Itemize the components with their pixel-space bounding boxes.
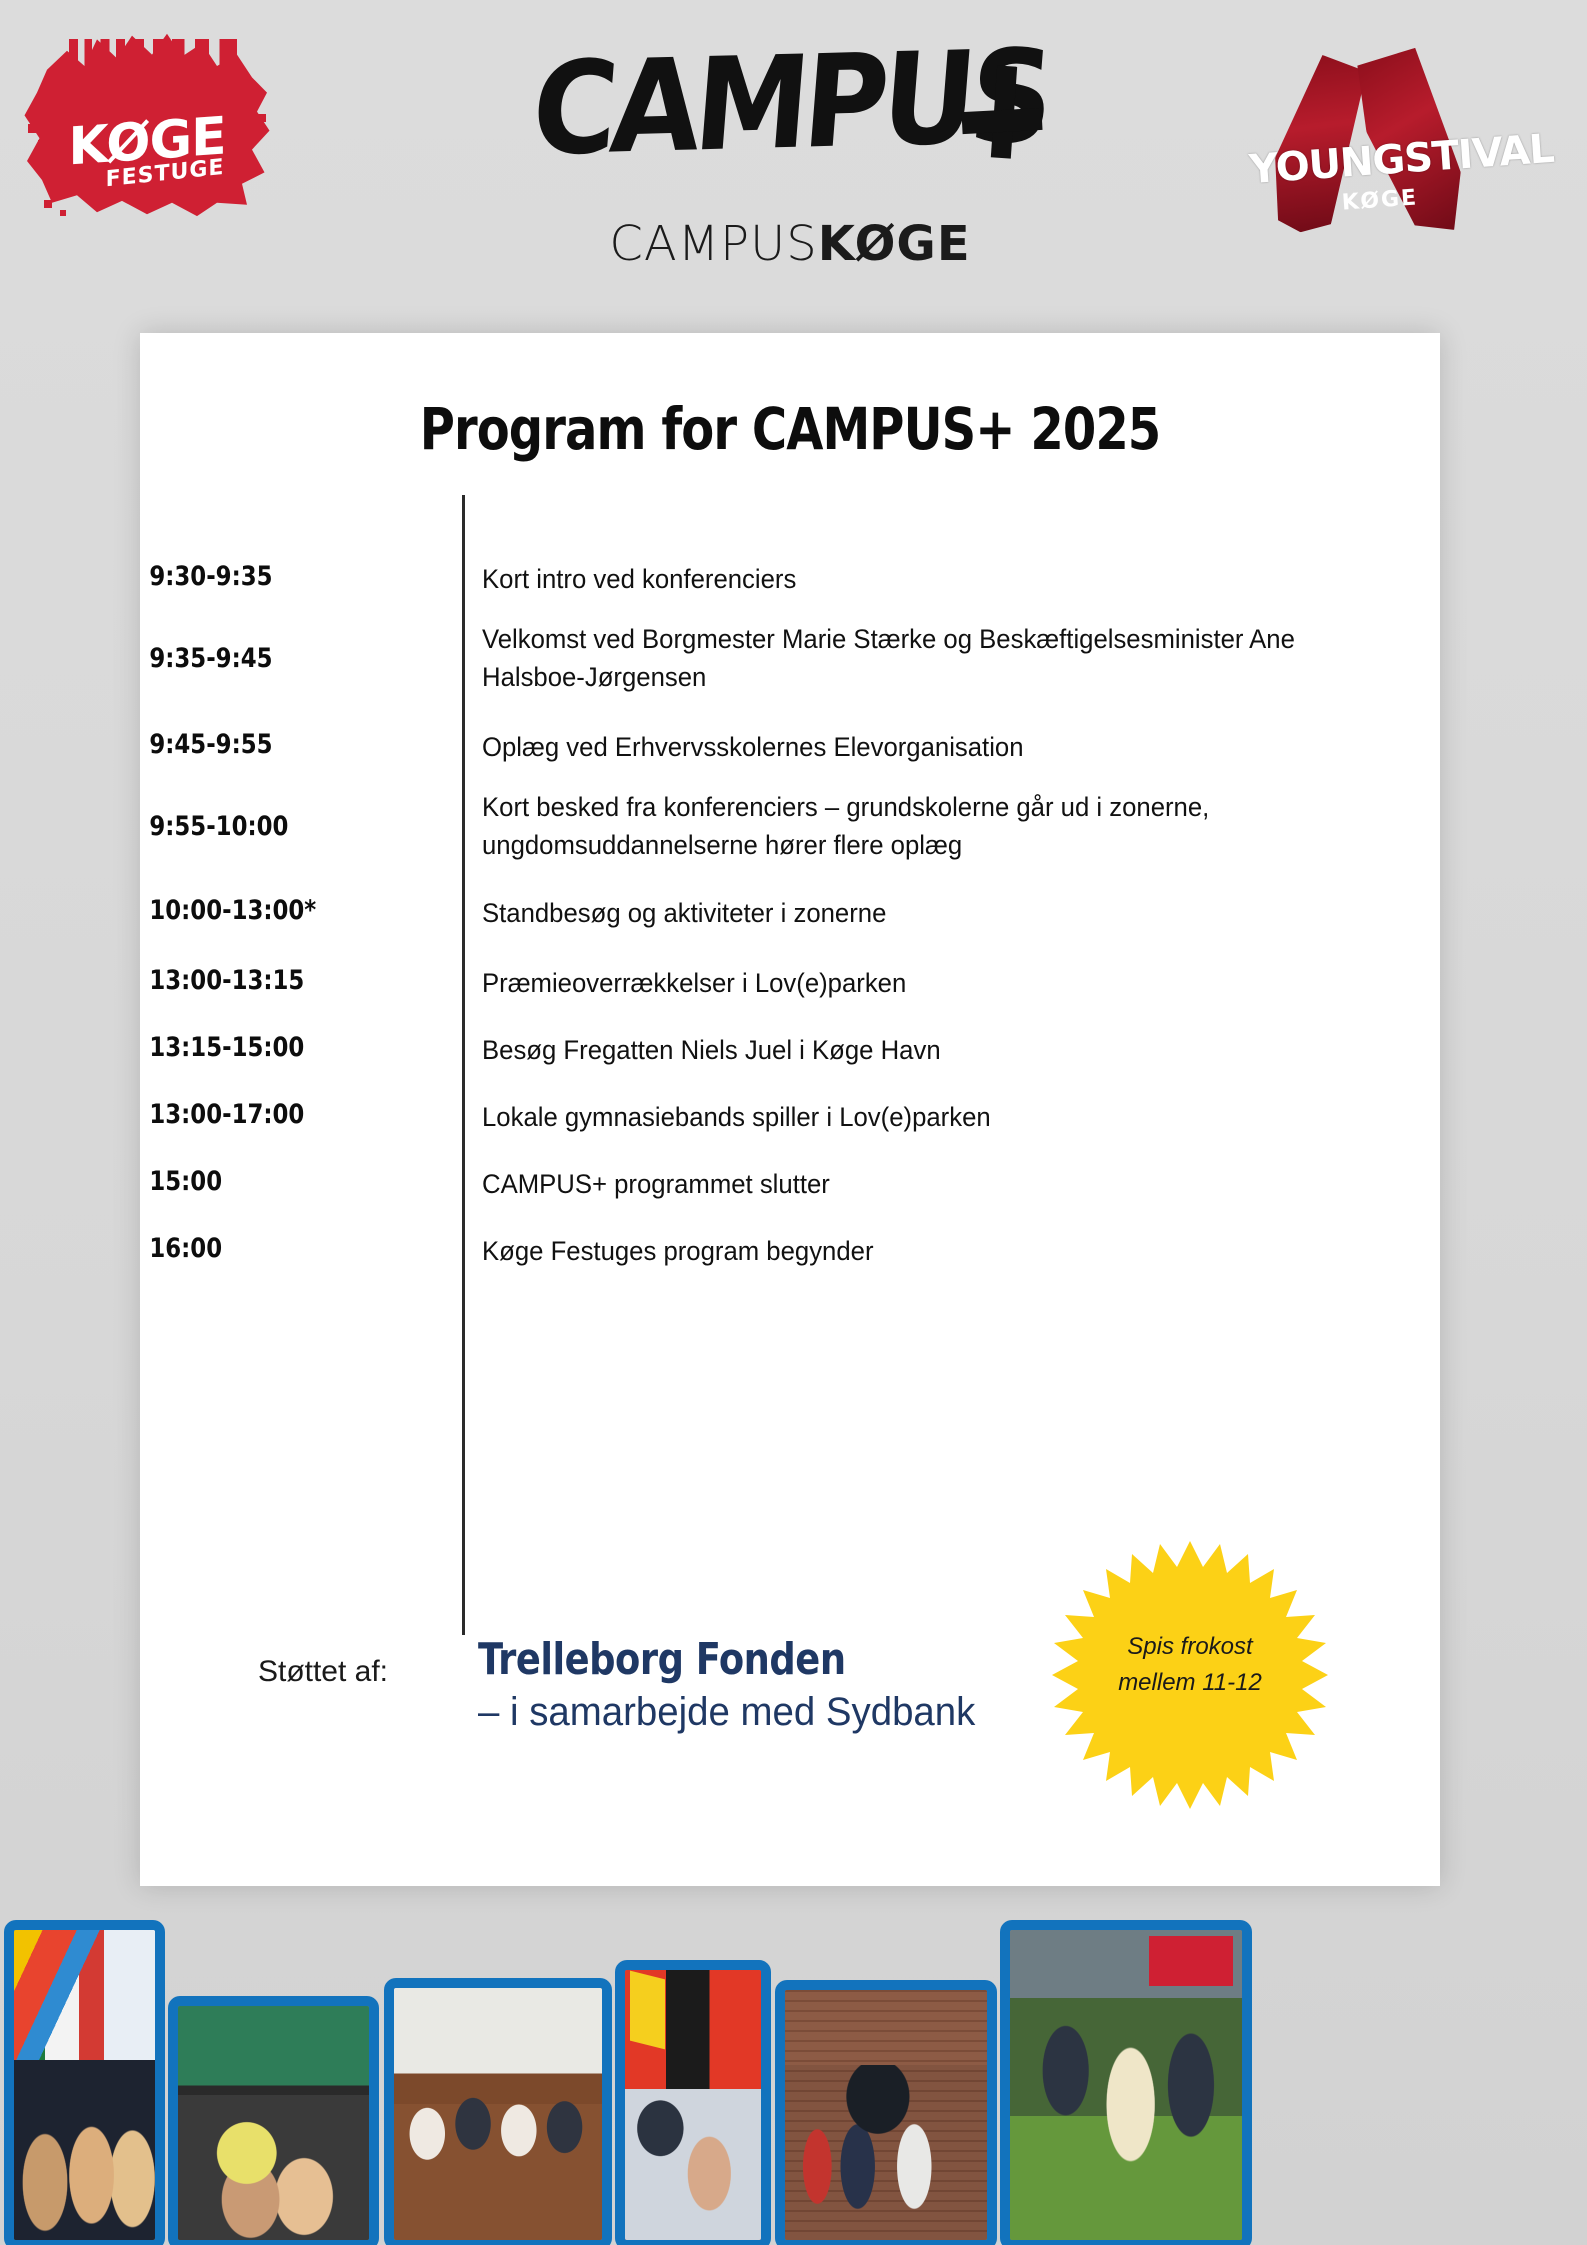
splatter-fleck [28, 124, 37, 133]
photo-students-with-flags [4, 1920, 165, 2245]
badge-text: Spis frokost mellem 11-12 [1052, 1629, 1328, 1701]
schedule-description: Kort besked fra konferenciers – grundsko… [482, 789, 1355, 864]
logo-bar: KØGE FESTUGE CAMPUS CAMPUSKØGE YOUNGSTIV… [0, 0, 1587, 333]
poster-root: KØGE FESTUGE CAMPUS CAMPUSKØGE YOUNGSTIV… [0, 0, 1587, 2245]
schedule-row: 9:45-9:55 Oplæg ved Erhvervsskolernes El… [140, 729, 1440, 767]
photo-image [785, 1990, 987, 2240]
photo-image [178, 2006, 369, 2240]
schedule-time: 9:55-10:00 [140, 811, 422, 864]
schedule-description: Kort intro ved konferenciers [482, 561, 1355, 599]
campus-plus-logo: CAMPUS CAMPUSKØGE [470, 40, 1110, 300]
koge-festuge-logo: KØGE FESTUGE [22, 28, 272, 218]
photo-image [14, 1930, 155, 2240]
splatter-fleck [60, 210, 66, 216]
schedule-description: CAMPUS+ programmet slutter [482, 1166, 1355, 1204]
photo-image [1010, 1930, 1242, 2240]
sponsor-tagline: – i samarbejde med Sydbank [478, 1688, 1092, 1736]
schedule-row: 16:00 Køge Festuges program begynder [140, 1233, 1440, 1271]
sponsor-block: Trelleborg Fonden – i samarbejde med Syd… [478, 1635, 1118, 1736]
schedule-row: 13:15-15:00 Besøg Fregatten Niels Juel i… [140, 1032, 1440, 1070]
schedule-time: 9:35-9:45 [140, 643, 422, 696]
photo-strip [0, 1880, 1587, 2245]
schedule-description: Lokale gymnasiebands spiller i Lov(e)par… [482, 1099, 1355, 1137]
schedule-time: 15:00 [140, 1166, 422, 1204]
photo-students-at-fire-truck [615, 1960, 771, 2245]
schedule-time: 13:00-13:15 [140, 965, 422, 1003]
photo-crowd-on-bleachers [384, 1978, 612, 2245]
youngstival-logo: YOUNGSTIVAL KØGE [1255, 50, 1505, 240]
plus-icon [956, 66, 1048, 158]
lunch-starburst-badge: Spis frokost mellem 11-12 [1052, 1537, 1328, 1813]
schedule-time: 9:45-9:55 [140, 729, 422, 767]
schedule-row: 10:00-13:00* Standbesøg og aktiviteter i… [140, 895, 1440, 933]
schedule-row: 9:30-9:35 Kort intro ved konferenciers [140, 561, 1440, 599]
schedule-description: Velkomst ved Borgmester Marie Stærke og … [482, 621, 1355, 696]
schedule-description: Standbesøg og aktiviteter i zonerne [482, 895, 1355, 933]
schedule-time: 13:15-15:00 [140, 1032, 422, 1070]
schedule-description: Oplæg ved Erhvervsskolernes Elevorganisa… [482, 729, 1355, 767]
schedule-time: 13:00-17:00 [140, 1099, 422, 1137]
photo-students-at-car-boot [775, 1980, 997, 2245]
schedule-row: 9:35-9:45 Velkomst ved Borgmester Marie … [140, 621, 1440, 696]
page-title: Program for CAMPUS+ 2025 [192, 395, 1388, 463]
photo-students-on-lawn [1000, 1920, 1252, 2245]
campuskoge-wordmark: CAMPUSKØGE [470, 216, 1110, 272]
badge-line-1: Spis frokost [1052, 1629, 1328, 1665]
splatter-fleck [44, 200, 52, 208]
schedule-row: 15:00 CAMPUS+ programmet slutter [140, 1166, 1440, 1204]
badge-line-2: mellem 11-12 [1052, 1665, 1328, 1701]
schedule-description: Besøg Fregatten Niels Juel i Køge Havn [482, 1032, 1355, 1070]
photo-image [625, 1970, 761, 2240]
photo-two-girls-at-green-tent [168, 1996, 379, 2245]
sponsor-name: Trelleborg Fonden [478, 1635, 1073, 1686]
photo-image [394, 1988, 602, 2240]
splatter-fleck [38, 140, 45, 147]
schedule-description: Køge Festuges program begynder [482, 1233, 1355, 1271]
splatter-fleck [258, 114, 266, 122]
campuskoge-bold: KØGE [818, 216, 971, 272]
schedule-row: 13:00-13:15 Præmieoverrækkelser i Lov(e)… [140, 965, 1440, 1003]
schedule-row: 13:00-17:00 Lokale gymnasiebands spiller… [140, 1099, 1440, 1137]
schedule-description: Præmieoverrækkelser i Lov(e)parken [482, 965, 1355, 1003]
supported-by-label: Støttet af: [173, 1655, 473, 1689]
schedule-time: 10:00-13:00* [140, 895, 422, 933]
campuskoge-thin: CAMPUS [609, 216, 817, 272]
schedule-row: 9:55-10:00 Kort besked fra konferenciers… [140, 789, 1440, 864]
schedule-time: 16:00 [140, 1233, 422, 1271]
schedule-time: 9:30-9:35 [140, 561, 422, 599]
crowd-silhouette-icon [62, 39, 237, 107]
